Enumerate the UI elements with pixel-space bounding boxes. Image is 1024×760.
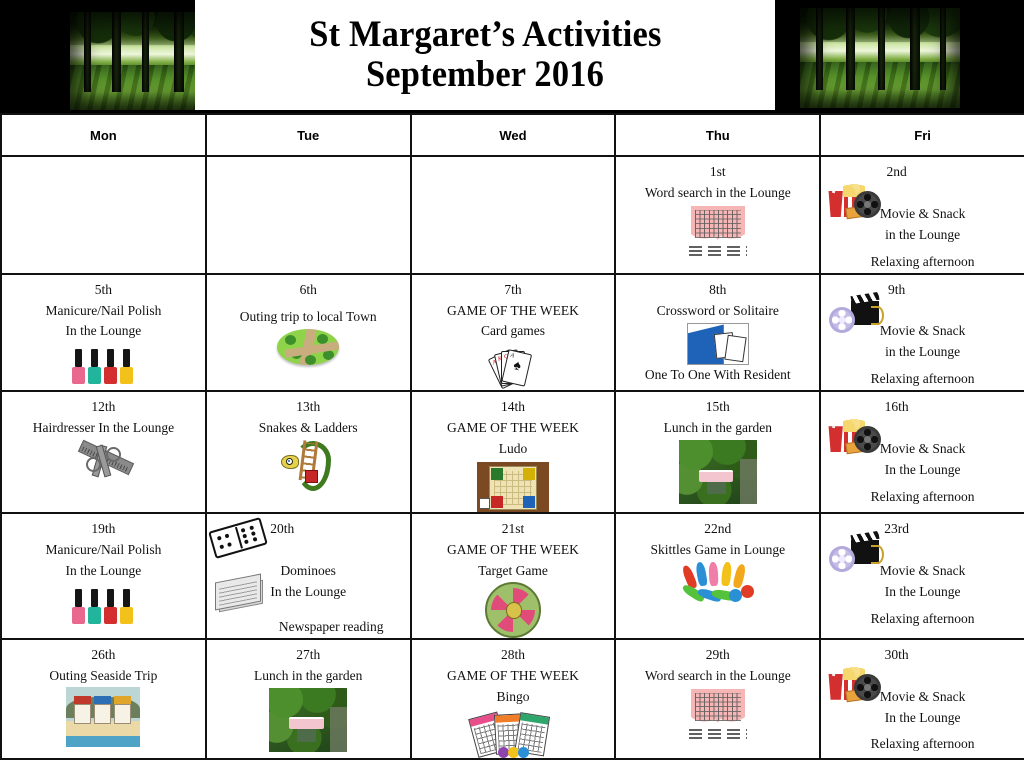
title-panel: St Margaret’s Activities September 2016 [195, 0, 775, 110]
activity-line: GAME OF THE WEEK [412, 301, 615, 322]
activity-line: Crossword or Solitaire [616, 301, 819, 322]
playing-cards-icon: A K Q A [487, 344, 539, 384]
activity-line: Lunch in the garden [207, 666, 410, 687]
activity-line: Relaxing afternoon [821, 734, 1024, 755]
day-header-row: Mon Tue Wed Thu Fri [1, 114, 1024, 156]
week-row: 12th Hairdresser In the Lounge 13th Snak… [1, 391, 1024, 513]
day-cell-empty[interactable] [411, 156, 616, 274]
park-map-icon [277, 329, 339, 365]
day-number: 22nd [616, 519, 819, 540]
day-cell-15[interactable]: 15th Lunch in the garden [615, 391, 820, 513]
day-number: 27th [207, 645, 410, 666]
wordsearch-heart-icon [685, 689, 751, 739]
day-number: 7th [412, 280, 615, 301]
popcorn-film-reel-icon [827, 179, 881, 219]
day-cell-empty[interactable] [1, 156, 206, 274]
day-cell-8[interactable]: 8th Crossword or Solitaire One To One Wi… [615, 274, 820, 392]
calendar-page: St Margaret’s Activities September 2016 … [0, 0, 1024, 724]
day-cell-empty[interactable] [206, 156, 411, 274]
activity-line: In the Lounge [2, 321, 205, 342]
popcorn-film-reel-icon [827, 414, 881, 454]
day-cell-21[interactable]: 21st GAME OF THE WEEK Target Game [411, 513, 616, 639]
activity-line: Outing trip to local Town [207, 307, 410, 328]
day-cell-1[interactable]: 1st Word search in the Lounge [615, 156, 820, 274]
day-cell-16[interactable]: 16th Movie & Snack In the Lounge Relaxin… [820, 391, 1024, 513]
day-number: 12th [2, 397, 205, 418]
day-number: 28th [412, 645, 615, 666]
day-cell-26[interactable]: 26th Outing Seaside Trip [1, 639, 206, 759]
solitaire-cards-icon [687, 323, 749, 365]
day-number: 13th [207, 397, 410, 418]
day-cell-2[interactable]: 2nd Movie & Snack in the Lounge Relaxing… [820, 156, 1024, 274]
skittles-icon [679, 561, 757, 605]
popcorn-film-reel-icon [827, 662, 881, 702]
activity-line: GAME OF THE WEEK [412, 540, 615, 561]
week-row: 26th Outing Seaside Trip 27th Lunch i [1, 639, 1024, 759]
day-number: 5th [2, 280, 205, 301]
activity-line: Snakes & Ladders [207, 418, 410, 439]
day-cell-12[interactable]: 12th Hairdresser In the Lounge [1, 391, 206, 513]
ludo-board-icon [477, 462, 549, 512]
activity-line: Lunch in the garden [616, 418, 819, 439]
activity-line: in the Lounge [821, 225, 1024, 246]
day-cell-20[interactable]: 20th [206, 513, 411, 639]
day-cell-29[interactable]: 29th Word search in the Lounge [615, 639, 820, 759]
activity-line: Card games [412, 321, 615, 342]
day-number: 14th [412, 397, 615, 418]
day-number: 6th [207, 280, 410, 301]
day-number: 21st [412, 519, 615, 540]
activity-line: Bingo [412, 687, 615, 708]
day-number: 8th [616, 280, 819, 301]
activity-line: Word search in the Lounge [616, 666, 819, 687]
forest-photo-right [800, 8, 960, 108]
garden-photo-icon [269, 688, 347, 752]
day-header-mon: Mon [1, 114, 206, 156]
activity-line: Manicure/Nail Polish [2, 540, 205, 561]
activity-line: in the Lounge [821, 342, 1024, 363]
page-title-line1: St Margaret’s Activities [309, 16, 661, 54]
activity-line: Relaxing afternoon [821, 609, 1024, 630]
day-cell-28[interactable]: 28th GAME OF THE WEEK Bingo [411, 639, 616, 759]
day-number: 1st [616, 162, 819, 183]
dominoes-icon [211, 520, 265, 554]
activity-line: Word search in the Lounge [616, 183, 819, 204]
week-row: 5th Manicure/Nail Polish In the Lounge [1, 274, 1024, 392]
bingo-cards-icon [478, 708, 548, 758]
film-reel-clapperboard-icon [829, 295, 881, 335]
day-header-thu: Thu [615, 114, 820, 156]
film-reel-clapperboard-icon [829, 534, 881, 574]
activity-line: Ludo [412, 439, 615, 460]
activity-line: In the Lounge [821, 708, 1024, 729]
week-row: 19th Manicure/Nail Polish In the Lounge [1, 513, 1024, 639]
activity-line: One To One With Resident [616, 365, 819, 386]
beach-huts-icon [66, 687, 140, 747]
activity-line: Newspaper reading [253, 617, 410, 638]
day-cell-13[interactable]: 13th Snakes & Ladders [206, 391, 411, 513]
day-cell-7[interactable]: 7th GAME OF THE WEEK Card games A K Q A [411, 274, 616, 392]
nail-polish-icon [72, 344, 134, 384]
target-game-icon [485, 582, 541, 638]
activity-line: Skittles Game in Lounge [616, 540, 819, 561]
nail-polish-icon [72, 584, 134, 624]
day-cell-6[interactable]: 6th Outing trip to local Town [206, 274, 411, 392]
activity-line: GAME OF THE WEEK [412, 666, 615, 687]
day-cell-27[interactable]: 27th Lunch in the garden [206, 639, 411, 759]
activity-line: Relaxing afternoon [821, 252, 1024, 273]
day-number: 26th [2, 645, 205, 666]
activity-line: Outing Seaside Trip [2, 666, 205, 687]
day-cell-5[interactable]: 5th Manicure/Nail Polish In the Lounge [1, 274, 206, 392]
day-cell-14[interactable]: 14th GAME OF THE WEEK Ludo [411, 391, 616, 513]
activity-line: Manicure/Nail Polish [2, 301, 205, 322]
newspaper-icon [215, 576, 263, 608]
day-header-fri: Fri [820, 114, 1024, 156]
scissors-comb-icon [72, 441, 134, 485]
page-title-line2: September 2016 [366, 56, 604, 94]
day-cell-22[interactable]: 22nd Skittles Game in Lounge [615, 513, 820, 639]
activity-line: In the Lounge [821, 582, 1024, 603]
page-header: St Margaret’s Activities September 2016 [0, 0, 1024, 113]
garden-photo-icon [679, 440, 757, 504]
activity-line: In the Lounge [2, 561, 205, 582]
activity-line: Relaxing afternoon [821, 487, 1024, 508]
activity-line: GAME OF THE WEEK [412, 418, 615, 439]
day-header-tue: Tue [206, 114, 411, 156]
snake-ladder-icon [279, 439, 337, 483]
day-number: 19th [2, 519, 205, 540]
activity-line: Relaxing afternoon [821, 369, 1024, 390]
day-cell-23[interactable]: 23rd Movie & Snack In the Lounge Relaxin… [820, 513, 1024, 639]
day-number: 15th [616, 397, 819, 418]
day-number: 29th [616, 645, 819, 666]
day-cell-9[interactable]: 9th Movie & Snack in the Lounge Relaxing… [820, 274, 1024, 392]
activity-line: In the Lounge [821, 460, 1024, 481]
activities-calendar: Mon Tue Wed Thu Fri 1st Word search in t… [0, 113, 1024, 760]
day-cell-30[interactable]: 30th Movie & Snack In the Lounge Relaxin… [820, 639, 1024, 759]
activity-line: Target Game [412, 561, 615, 582]
wordsearch-heart-icon [685, 206, 751, 256]
activity-line: Hairdresser In the Lounge [2, 418, 205, 439]
day-cell-19[interactable]: 19th Manicure/Nail Polish In the Lounge [1, 513, 206, 639]
week-row: 1st Word search in the Lounge 2nd [1, 156, 1024, 274]
day-header-wed: Wed [411, 114, 616, 156]
